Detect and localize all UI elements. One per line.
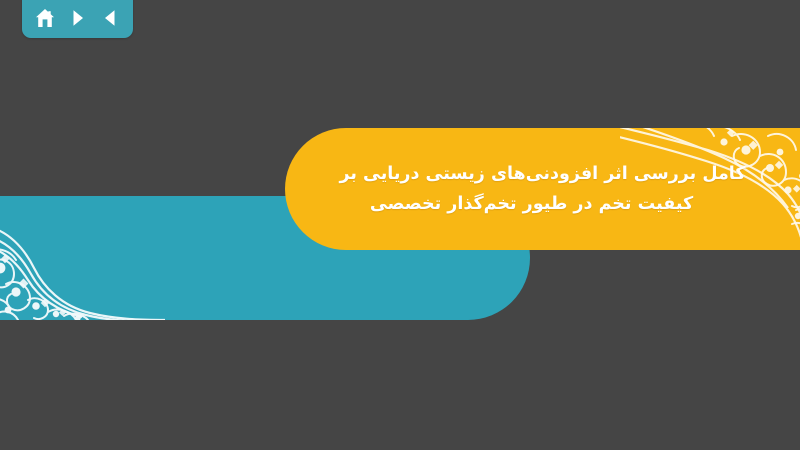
home-button[interactable]	[32, 5, 58, 31]
home-icon	[34, 8, 56, 29]
next-button[interactable]	[65, 5, 91, 31]
orange-banner: کامل بررسی اثر افزودنی‌های زیستی دریایی …	[285, 128, 800, 250]
triangle-right-icon	[68, 8, 88, 28]
previous-button[interactable]	[97, 5, 123, 31]
title-line-2: کیفیت تخم در طیور تخم‌گذار تخصصی	[370, 190, 693, 218]
slide-canvas: کامل بررسی اثر افزودنی‌های زیستی دریایی …	[0, 0, 800, 450]
triangle-left-icon	[100, 8, 120, 28]
teal-corner-ornament	[0, 196, 165, 320]
navigation-bar[interactable]	[22, 0, 133, 38]
slide-title: کامل بررسی اثر افزودنی‌های زیستی دریایی …	[305, 128, 790, 250]
title-line-1: کامل بررسی اثر افزودنی‌های زیستی دریایی …	[339, 160, 745, 188]
